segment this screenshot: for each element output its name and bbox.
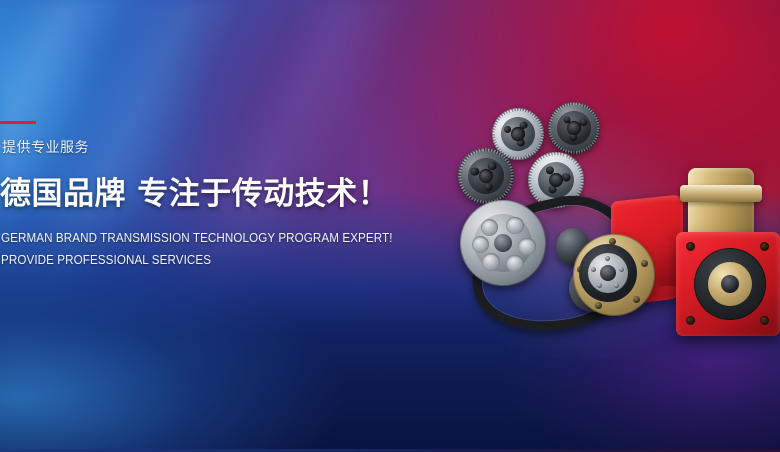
- right-angle-gearbox-right: [672, 168, 780, 343]
- gearbox-seal-ring: [579, 244, 637, 302]
- hero-headline: 德国品牌 专注于传动技术！: [0, 168, 389, 213]
- gearbox-hub-face: [588, 253, 628, 293]
- hero-banner: 提供专业服务 德国品牌 专注于传动技术！ GERMAN BRAND TRANSM…: [0, 0, 780, 452]
- housing-bolt: [686, 242, 695, 251]
- pulley-lightening-hole: [482, 253, 499, 270]
- pulley-lightening-hole: [481, 219, 498, 236]
- hub-bolt: [619, 267, 624, 272]
- gearbox-output-flange: [573, 234, 655, 316]
- hero-kicker: 提供专业服务: [2, 137, 89, 157]
- pulley-lightening-hole: [506, 217, 523, 234]
- housing-bolt: [760, 316, 769, 325]
- product-artwork: [0, 0, 780, 452]
- hub-bolt: [614, 283, 619, 288]
- gearbox-bore: [600, 265, 616, 281]
- hero-subline-1: GERMAN BRAND TRANSMISSION TECHNOLOGY PRO…: [1, 231, 393, 245]
- hub-bolt: [597, 283, 602, 288]
- gearbox-output-shaft: [721, 275, 739, 293]
- hub-bolt: [605, 256, 610, 261]
- large-timing-pulley: [460, 200, 546, 286]
- housing-bolt: [686, 316, 695, 325]
- timing-pulley-dark-upper-right: [543, 97, 605, 159]
- flange-bolt: [641, 260, 648, 267]
- flange-bolt: [595, 302, 602, 309]
- pulley-lightening-hole: [518, 238, 535, 255]
- flange-bolt: [633, 296, 640, 303]
- hero-subline-2: PROVIDE PROFESSIONAL SERVICES: [1, 253, 211, 267]
- gearbox-output-plate: [694, 248, 766, 320]
- gearbox-brass-ring: [708, 262, 752, 306]
- gearbox-red-housing: [676, 232, 780, 336]
- gearbox-brass-collar: [680, 185, 762, 202]
- hub-bolt: [591, 267, 596, 272]
- pulley-lightening-hole: [506, 255, 523, 272]
- accent-rule: [0, 121, 36, 124]
- housing-bolt: [760, 242, 769, 251]
